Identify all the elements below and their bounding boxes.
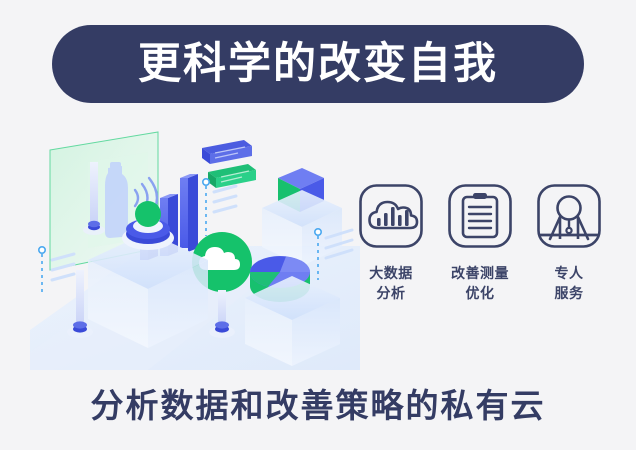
page-title: 更科学的改变自我 (138, 43, 498, 86)
feature-label-service: 专人 服务 (555, 263, 584, 304)
dotted-pin-marker-center (203, 179, 209, 236)
feature-label-line1: 大数据 (369, 265, 413, 281)
poster-root: 更科学的改变自我 (0, 0, 636, 450)
feature-label-line1: 专人 (555, 265, 584, 281)
feature-list: 大数据 分析 改善测量 优化 (352, 183, 608, 323)
feature-label-big-data: 大数据 分析 (369, 263, 413, 304)
data-label-tag-blue (202, 140, 252, 164)
header-banner: 更科学的改变自我 (52, 25, 584, 103)
hero-illustration (30, 120, 360, 370)
data-label-tag-green (208, 164, 256, 188)
feature-label-measurement: 改善测量 优化 (451, 263, 509, 304)
clipboard-icon (447, 183, 513, 249)
feature-label-line2: 分析 (369, 283, 413, 303)
footer-tagline: 分析数据和改善策略的私有云 (0, 386, 636, 426)
feature-item-big-data: 大数据 分析 (352, 183, 430, 304)
dotted-pin-marker-left (39, 247, 45, 292)
feature-label-line2: 优化 (451, 283, 509, 303)
cloud-bar-chart-icon (358, 183, 424, 249)
feature-label-line2: 服务 (555, 283, 584, 303)
feature-item-measurement: 改善测量 优化 (441, 183, 519, 304)
feature-label-line1: 改善测量 (451, 265, 509, 281)
service-agent-icon (536, 183, 602, 249)
feature-item-service: 专人 服务 (530, 183, 608, 304)
